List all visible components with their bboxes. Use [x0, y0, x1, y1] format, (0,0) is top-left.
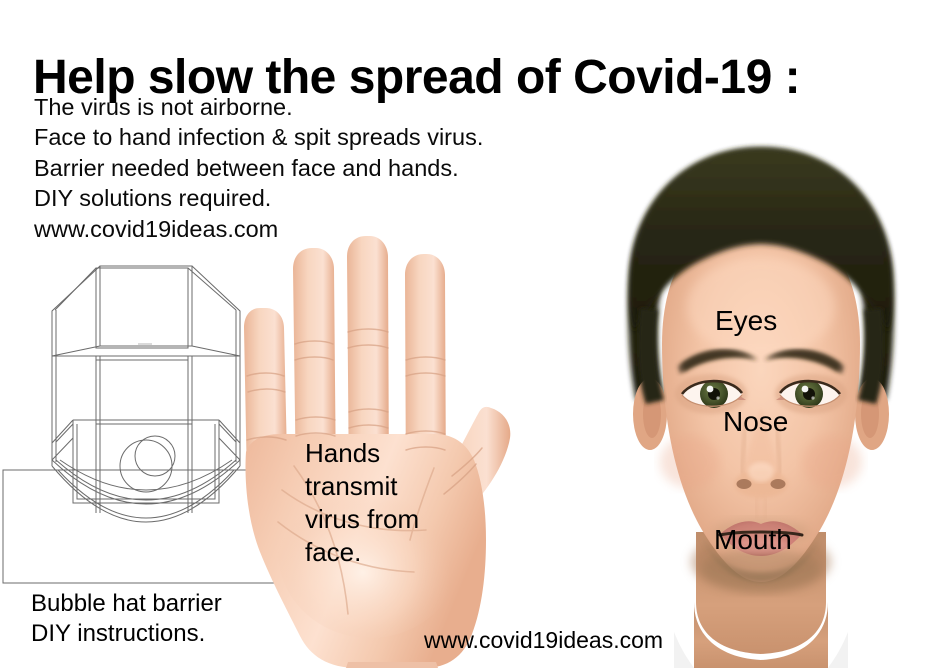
- mans-face-photo: [578, 132, 945, 668]
- intro-line-4: DIY solutions required.: [34, 183, 483, 213]
- hand-caption-block: Hands transmit virus from face.: [305, 437, 465, 569]
- face-label-nose: Nose: [723, 406, 788, 438]
- hand-caption-line-4: face.: [305, 536, 465, 569]
- bubble-caption-line-2: DIY instructions.: [31, 619, 222, 649]
- bubble-hat-caption-block: Bubble hat barrier DIY instructions.: [31, 589, 222, 649]
- intro-line-2: Face to hand infection & spit spreads vi…: [34, 122, 483, 152]
- bottom-watermark: www.covid19ideas.com: [424, 627, 663, 654]
- bubble-caption-line-1: Bubble hat barrier: [31, 589, 222, 619]
- hand-caption-line-3: virus from: [305, 503, 465, 536]
- face-label-mouth: Mouth: [714, 524, 792, 556]
- hand-caption-line-2: transmit: [305, 470, 465, 503]
- intro-line-1: The virus is not airborne.: [34, 92, 483, 122]
- face-label-eyes: Eyes: [715, 305, 777, 337]
- hand-caption-line-1: Hands: [305, 437, 465, 470]
- poster-canvas: Help slow the spread of Covid-19 : The v…: [0, 0, 945, 668]
- intro-line-3: Barrier needed between face and hands.: [34, 153, 483, 183]
